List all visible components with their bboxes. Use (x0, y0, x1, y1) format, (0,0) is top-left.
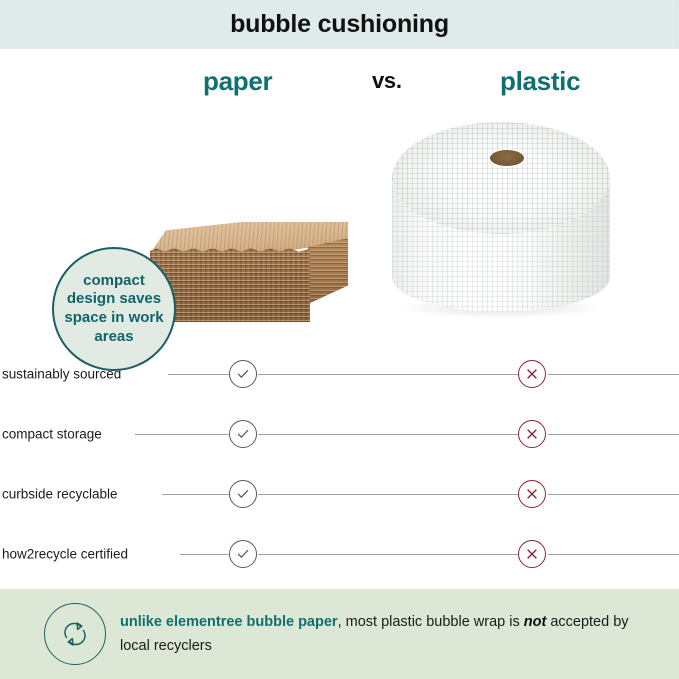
row-connector-left (162, 494, 230, 495)
recycling-note-emphasis: not (524, 614, 547, 630)
table-row: compact storage (0, 404, 679, 464)
compact-design-badge: compact design saves space in work areas (52, 247, 176, 371)
row-connector-middle (258, 374, 518, 375)
roll-top-surface (392, 122, 610, 234)
column-header-plastic: plastic (500, 66, 580, 97)
plastic-cross-icon (518, 480, 546, 508)
compact-design-badge-label: compact design saves space in work areas (54, 272, 174, 347)
corrugated-paper-stack-image (150, 220, 348, 325)
row-connector-right (548, 374, 679, 375)
page-title: bubble cushioning (230, 10, 449, 39)
plastic-cross-icon (518, 420, 546, 448)
roll-cardboard-core (490, 150, 524, 166)
row-connector-left (135, 434, 230, 435)
recycling-note-part-1: , most plastic bubble wrap is (338, 614, 524, 630)
recycle-icon (44, 603, 106, 665)
paper-check-icon (229, 420, 257, 448)
table-row: curbside recyclable (0, 464, 679, 524)
page-title-band: bubble cushioning (0, 0, 679, 49)
table-row: how2recycle certified (0, 524, 679, 584)
plastic-cross-icon (518, 540, 546, 568)
plastic-bubble-wrap-roll-image (392, 122, 610, 330)
plastic-cross-icon (518, 360, 546, 388)
row-connector-middle (258, 434, 518, 435)
product-comparison-images: compact design saves space in work areas (0, 110, 679, 340)
recycling-note-text: unlike elementree bubble paper, most pla… (120, 611, 660, 659)
row-label: curbside recyclable (2, 487, 118, 502)
paper-check-icon (229, 360, 257, 388)
recycling-note-banner: unlike elementree bubble paper, most pla… (0, 589, 679, 679)
row-connector-left (180, 554, 230, 555)
row-connector-middle (258, 494, 518, 495)
row-connector-left (168, 374, 230, 375)
row-label: compact storage (2, 427, 102, 442)
row-connector-right (548, 554, 679, 555)
column-headers: paper vs. plastic (0, 66, 679, 106)
column-header-vs: vs. (372, 68, 402, 94)
paper-check-icon (229, 540, 257, 568)
row-label: how2recycle certified (2, 547, 128, 562)
paper-check-icon (229, 480, 257, 508)
column-header-paper: paper (203, 66, 272, 97)
paper-stack-side-face (308, 238, 348, 304)
row-connector-middle (258, 554, 518, 555)
row-connector-right (548, 434, 679, 435)
comparison-rows: sustainably sourced compact storage (0, 344, 679, 584)
row-connector-right (548, 494, 679, 495)
recycling-note-highlight: unlike elementree bubble paper (120, 614, 338, 630)
